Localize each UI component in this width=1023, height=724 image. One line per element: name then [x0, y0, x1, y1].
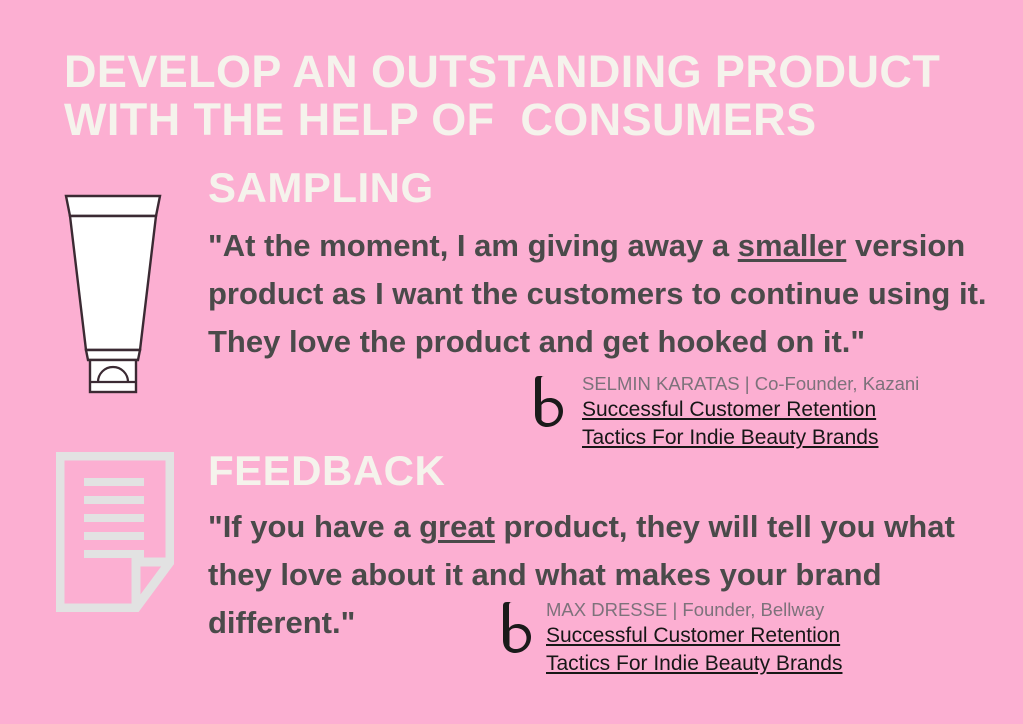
attribution-text-block: SELMIN KARATAS | Co-Founder, Kazani Succ… [568, 372, 919, 452]
page-title: DEVELOP AN OUTSTANDING PRODUCT WITH THE … [64, 48, 964, 144]
brand-b-logo-icon [500, 600, 536, 656]
document-icon [56, 452, 174, 612]
title-line-1: DEVELOP AN OUTSTANDING PRODUCT [64, 48, 964, 96]
title-line-2: WITH THE HELP OF CONSUMERS [64, 96, 964, 144]
cosmetic-tube-icon [52, 192, 174, 397]
attribution-name: SELMIN KARATAS | Co-Founder, Kazani [582, 372, 919, 396]
quote-text-sampling: "At the moment, I am giving away a small… [208, 222, 998, 366]
section-heading-feedback: FEEDBACK [208, 448, 445, 494]
quote-before: "At the moment, I am giving away a [208, 228, 738, 263]
attribution-link-line-2[interactable]: Tactics For Indie Beauty Brands [582, 424, 919, 452]
quote-before: "If you have a [208, 509, 419, 544]
attribution-link-line-2[interactable]: Tactics For Indie Beauty Brands [546, 650, 842, 678]
quote-emphasis: smaller [738, 228, 847, 263]
section-heading-sampling: SAMPLING [208, 165, 434, 211]
attribution-link-line-1[interactable]: Successful Customer Retention [546, 622, 842, 650]
poster-canvas: DEVELOP AN OUTSTANDING PRODUCT WITH THE … [0, 0, 1023, 724]
attribution-sampling: SELMIN KARATAS | Co-Founder, Kazani Succ… [532, 372, 919, 452]
attribution-link-line-1[interactable]: Successful Customer Retention [582, 396, 919, 424]
attribution-text-block: MAX DRESSE | Founder, Bellway Successful… [536, 598, 842, 678]
attribution-feedback: MAX DRESSE | Founder, Bellway Successful… [500, 598, 842, 678]
attribution-name: MAX DRESSE | Founder, Bellway [546, 598, 842, 622]
brand-b-logo-icon [532, 374, 568, 430]
quote-emphasis: great [419, 509, 495, 544]
